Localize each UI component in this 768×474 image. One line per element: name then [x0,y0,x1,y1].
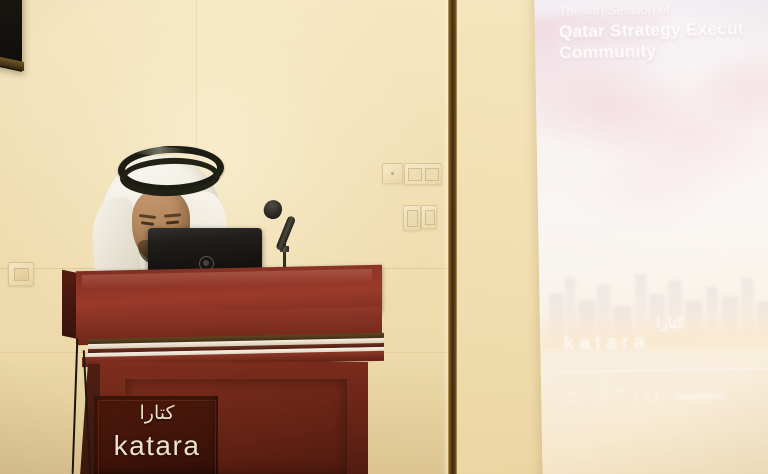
speaker-eye-left [141,221,154,225]
speaker-eyebrow-left [139,214,156,219]
exxonmobil-tiger-icon [646,386,667,407]
wall-outlet-plate-a [382,163,403,184]
microphone-head [261,197,285,221]
wall-outlet-plate-c [403,205,421,231]
slide-title-line-1: Qatar Strategy Execut [559,18,768,43]
wall-outlet-plate-d [421,205,437,229]
slide-sponsor-row: وزارة الثقافة والرياضة المؤسسة العامة لل… [563,380,768,414]
speaker-eyebrow-right [164,213,181,217]
light-switch-icon[interactable] [8,262,34,286]
slide-title-line-2: Community [559,39,768,64]
slide-katara-logo: كتارا katara [564,315,685,354]
speaker-agal-highlight [132,147,186,155]
photo-scene: The 4th Session of Qatar Strategy Execut… [0,0,768,474]
slide-katara-arabic: كتارا [564,315,684,332]
microphone-icon [262,200,290,246]
slide-pretitle: The 4th Session of [558,0,768,20]
sponsor-logo-exxonmobil: ExxonMobil [676,391,723,402]
podium-plaque-latin: katara [100,432,214,460]
speaker-eye-right [166,220,179,224]
slide-title-block: The 4th Session of Qatar Strategy Execut… [558,0,768,63]
sponsor-logo-two: المؤسسة العامة للحي الثقافي كتارا [596,387,627,407]
podium-plaque-arabic: كتارا [104,404,210,423]
slide-katara-latin: katara [564,332,684,354]
sponsor-logo-one: وزارة الثقافة والرياضة [563,391,587,405]
wall-column-trim [448,0,457,474]
projection-screen: The 4th Session of Qatar Strategy Execut… [534,0,768,474]
sponsor-divider [636,389,637,405]
wall-outlet-plate-b [404,163,442,185]
